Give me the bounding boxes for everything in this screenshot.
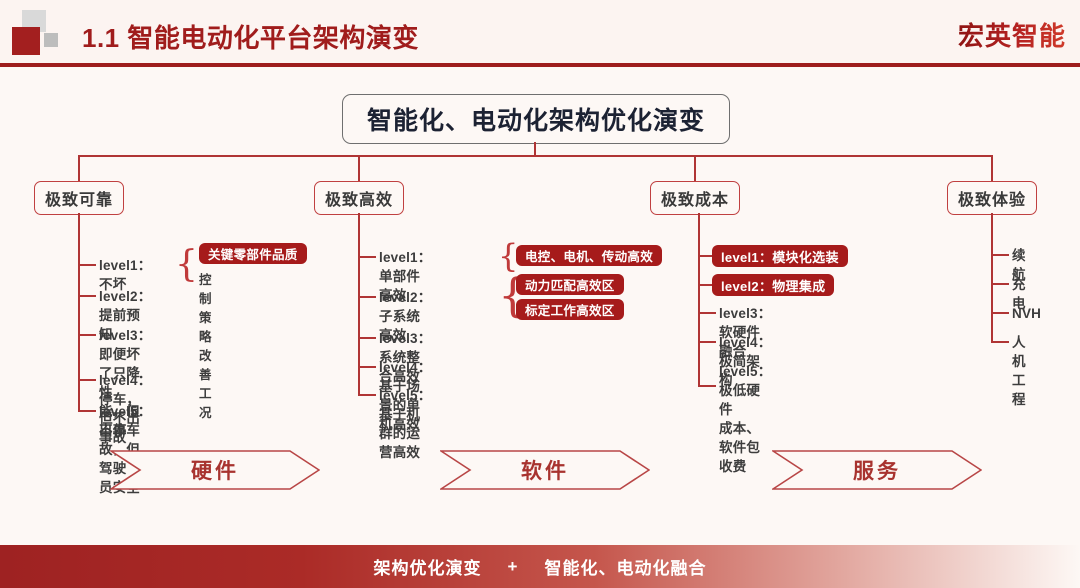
leaf-experience-3: NVH — [1012, 304, 1041, 323]
connector-drop-1 — [78, 155, 80, 181]
tick-cost-3 — [698, 312, 716, 314]
spine-efficiency — [358, 213, 360, 395]
tick-experience-3 — [991, 312, 1009, 314]
tick-experience-2 — [991, 283, 1009, 285]
slide-root: 1.1 智能电动化平台架构演变 宏英智能 智能化、电动化架构优化演变 极致可靠 … — [0, 0, 1080, 588]
footer-content: 架构优化演变 + 智能化、电动化融合 — [0, 545, 1080, 588]
branch-node-efficiency[interactable]: 极致高效 — [314, 181, 404, 215]
root-node-label: 智能化、电动化架构优化演变 — [367, 101, 705, 137]
header-divider — [0, 63, 1080, 67]
chevron-software-label: 软件 — [440, 450, 650, 490]
branch-label-efficiency: 极致高效 — [325, 186, 393, 210]
subtext-reliability-1-1: 控制策略改善工况 — [199, 271, 212, 423]
tick-efficiency-3 — [358, 337, 376, 339]
branch-node-cost[interactable]: 极致成本 — [650, 181, 740, 215]
footer-bar: 架构优化演变 + 智能化、电动化融合 — [0, 545, 1080, 588]
chevron-service-label: 服务 — [772, 450, 982, 490]
tick-cost-4 — [698, 341, 716, 343]
footer-left-label: 架构优化演变 — [374, 554, 482, 579]
tick-cost-2 — [698, 284, 712, 286]
chevron-software[interactable]: 软件 — [440, 450, 650, 490]
brace-reliability-1: { — [175, 247, 198, 283]
tick-reliability-4 — [78, 379, 96, 381]
tick-cost-1 — [698, 255, 712, 257]
badge-cost-1[interactable]: level1：模块化选装 — [712, 245, 848, 267]
chevron-hardware-label: 硬件 — [110, 450, 320, 490]
slide-header: 1.1 智能电动化平台架构演变 宏英智能 — [0, 0, 1080, 66]
decor-square-red — [12, 27, 40, 55]
page-title: 1.1 智能电动化平台架构演变 — [82, 18, 419, 55]
company-logo: 宏英智能 — [958, 16, 1066, 53]
branch-label-cost: 极致成本 — [661, 186, 729, 210]
connector-drop-3 — [694, 155, 696, 181]
chevron-service[interactable]: 服务 — [772, 450, 982, 490]
tick-reliability-2 — [78, 295, 96, 297]
connector-drop-4 — [991, 155, 993, 181]
footer-right-label: 智能化、电动化融合 — [544, 554, 706, 579]
connector-root-drop — [534, 142, 536, 156]
badge-cost-2[interactable]: level2：物理集成 — [712, 274, 834, 296]
tick-cost-5 — [698, 385, 716, 387]
connector-drop-2 — [358, 155, 360, 181]
badge-efficiency-2-1[interactable]: 动力匹配高效区 — [516, 274, 624, 295]
tick-efficiency-2 — [358, 296, 376, 298]
tick-experience-1 — [991, 254, 1009, 256]
footer-plus-sign: + — [508, 557, 519, 577]
spine-cost — [698, 213, 700, 386]
badge-efficiency-2-2[interactable]: 标定工作高效区 — [516, 299, 624, 320]
branch-label-experience: 极致体验 — [958, 186, 1026, 210]
tick-efficiency-5 — [358, 394, 376, 396]
tick-efficiency-1 — [358, 256, 376, 258]
badge-reliability-1-1[interactable]: 关键零部件品质 — [199, 243, 307, 264]
branch-label-reliability: 极致可靠 — [45, 186, 113, 210]
root-node: 智能化、电动化架构优化演变 — [342, 94, 730, 144]
leaf-efficiency-5: level5：基于机群的运营高效 — [379, 386, 431, 462]
branch-node-experience[interactable]: 极致体验 — [947, 181, 1037, 215]
tick-experience-4 — [991, 341, 1009, 343]
badge-efficiency-1-1[interactable]: 电控、电机、传动高效 — [516, 245, 662, 266]
connector-bus — [78, 155, 992, 157]
tick-efficiency-4 — [358, 366, 376, 368]
tick-reliability-5 — [78, 410, 96, 412]
decor-square-gray-small — [44, 33, 58, 47]
leaf-experience-4: 人机工程 — [1012, 333, 1026, 409]
branch-node-reliability[interactable]: 极致可靠 — [34, 181, 124, 215]
leaf-cost-5: level5：极低硬件 成本、软件包收费 — [719, 362, 771, 476]
tick-reliability-1 — [78, 264, 96, 266]
spine-experience — [991, 213, 993, 342]
tick-reliability-3 — [78, 334, 96, 336]
spine-reliability — [78, 213, 80, 411]
chevron-hardware[interactable]: 硬件 — [110, 450, 320, 490]
